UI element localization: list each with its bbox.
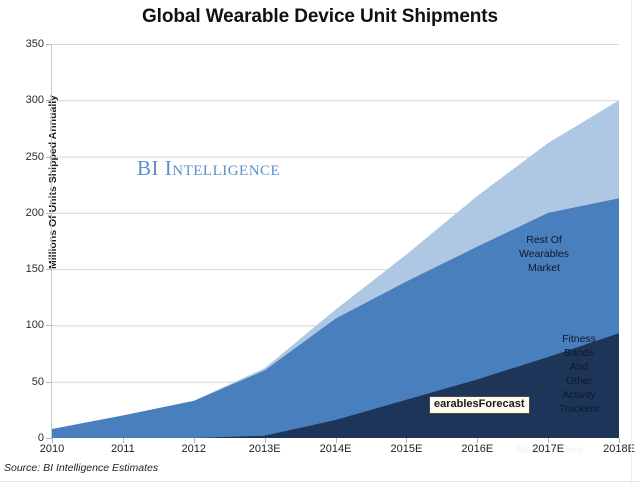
y-tick-label: 250 <box>4 151 44 163</box>
y-tick-label: 100 <box>4 319 44 331</box>
source-note: Source: BI Intelligence Estimates <box>4 462 158 474</box>
chart-title: Global Wearable Device Unit Shipments <box>0 6 640 28</box>
bi-intelligence-watermark: BI Intelligence <box>137 156 280 181</box>
y-tick-label: 300 <box>4 94 44 106</box>
y-tick-mark <box>46 213 52 214</box>
x-tick-label: 2010 <box>40 443 64 455</box>
y-tick-mark <box>46 382 52 383</box>
x-tick-label: 2011 <box>111 443 135 455</box>
series-label-fitness-bands: Fitness Bands And Other Activity Tracker… <box>559 332 599 416</box>
y-tick-mark <box>46 100 52 101</box>
y-tick-mark <box>46 269 52 270</box>
x-tick-label: 2017E <box>532 443 564 455</box>
x-tick-label: 2014E <box>320 443 352 455</box>
y-tick-mark <box>46 157 52 158</box>
y-tick-label: 0 <box>4 432 44 444</box>
x-tick-label: 2016E <box>461 443 493 455</box>
earables-forecast-tooltip[interactable]: earablesForecast <box>429 396 530 414</box>
watermark-bi-text: BI <box>137 156 159 180</box>
y-tick-mark <box>46 438 52 439</box>
y-tick-label: 150 <box>4 263 44 275</box>
y-tick-mark <box>46 325 52 326</box>
y-tick-label: 350 <box>4 38 44 50</box>
y-tick-mark <box>46 44 52 45</box>
watermark-intelligence-text: Intelligence <box>165 156 280 180</box>
x-tick-label: 2013E <box>249 443 281 455</box>
bottom-divider <box>0 481 640 482</box>
plot-area: Rest Of Wearables Market Fitness Bands A… <box>52 44 619 438</box>
chart-container: Global Wearable Device Unit Shipments 35… <box>0 0 640 485</box>
x-tick-label: 2015E <box>390 443 422 455</box>
series-label-rest-of-wearables: Rest Of Wearables Market <box>507 233 582 275</box>
y-axis-tick-labels: 350300250200150100500 <box>0 0 44 485</box>
y-tick-label: 200 <box>4 207 44 219</box>
x-tick-label: 2012 <box>182 443 206 455</box>
right-divider <box>631 0 632 485</box>
x-axis-tick-labels: 2010201120122013E2014E2015E2016E2017E201… <box>52 443 619 461</box>
y-tick-label: 50 <box>4 376 44 388</box>
